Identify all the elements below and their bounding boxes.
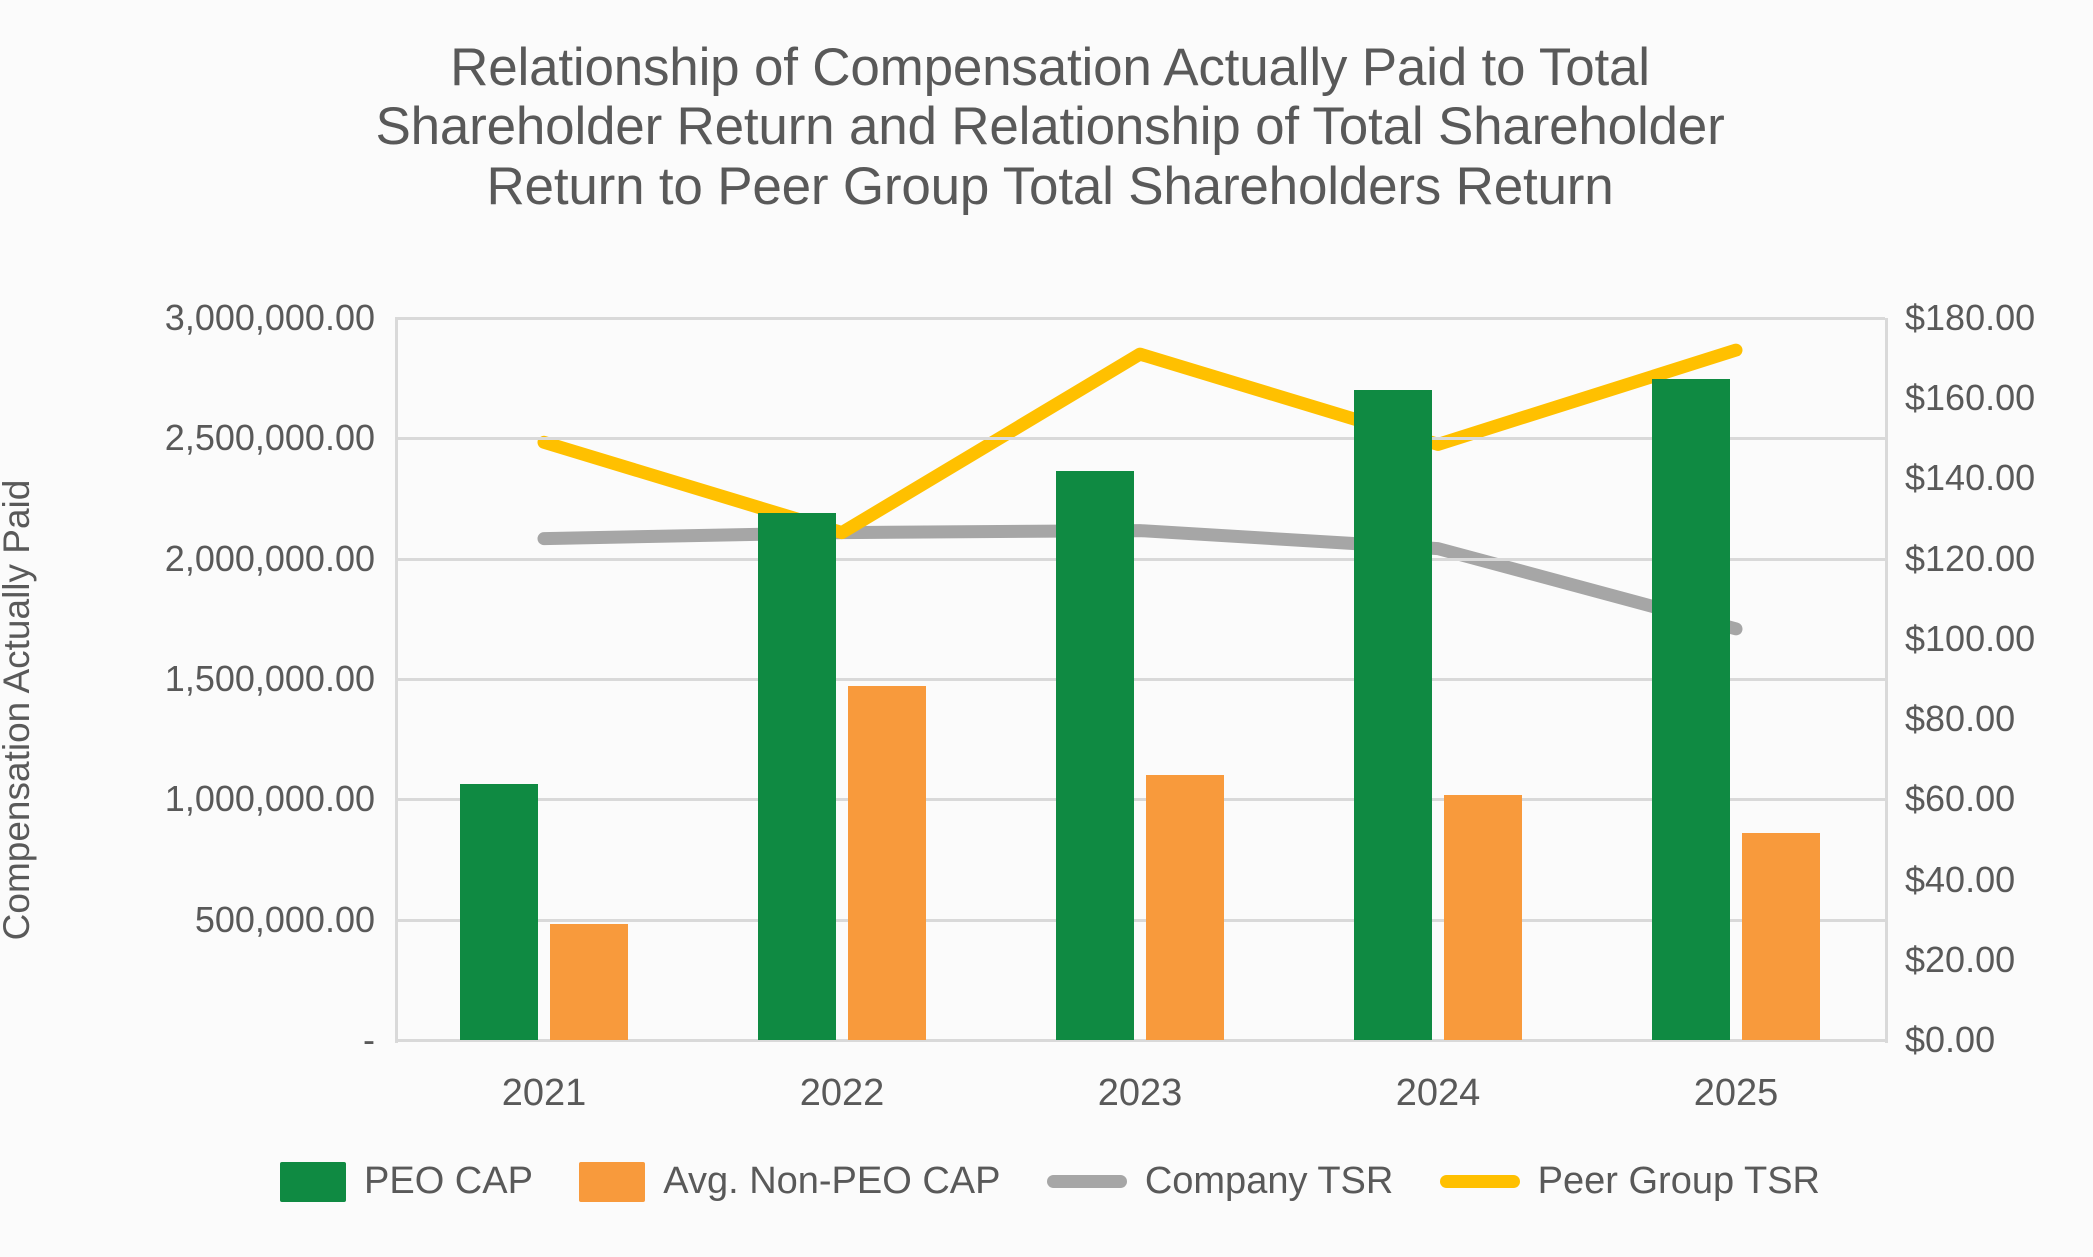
right-axis-tick-label: $0.00 bbox=[1905, 1019, 2093, 1061]
chart-legend: PEO CAPAvg. Non-PEO CAPCompany TSRPeer G… bbox=[270, 1160, 1830, 1203]
right-axis-tick-label: $40.00 bbox=[1905, 859, 2093, 901]
bar-peo-cap bbox=[1354, 390, 1432, 1040]
y-axis-title: Compensation Actually Paid bbox=[0, 430, 38, 990]
gridline bbox=[395, 317, 1885, 320]
x-axis-tick-label: 2022 bbox=[742, 1072, 942, 1115]
legend-label: Company TSR bbox=[1145, 1160, 1394, 1203]
legend-swatch-company-tsr-icon bbox=[1047, 1175, 1127, 1188]
right-axis-tick-label: $160.00 bbox=[1905, 377, 2093, 419]
left-axis-tick-label: - bbox=[125, 1019, 375, 1061]
chart-title-line-2: Shareholder Return and Relationship of T… bbox=[260, 97, 1840, 156]
bar-peo-cap bbox=[1652, 379, 1730, 1040]
legend-item-avg-non-peo-cap[interactable]: Avg. Non-PEO CAP bbox=[579, 1160, 1000, 1203]
legend-swatch-peo-cap-icon bbox=[280, 1162, 346, 1202]
right-axis-tick-label: $120.00 bbox=[1905, 538, 2093, 580]
x-axis-tick-label: 2023 bbox=[1040, 1072, 1240, 1115]
left-axis-tick-label: 2,000,000.00 bbox=[125, 538, 375, 580]
chart-card: Relationship of Compensation Actually Pa… bbox=[0, 0, 2093, 1257]
left-axis-tick-label: 3,000,000.00 bbox=[125, 297, 375, 339]
legend-item-peo-cap[interactable]: PEO CAP bbox=[280, 1160, 533, 1203]
bar-avg-non-peo-cap bbox=[1742, 833, 1820, 1040]
x-axis-tick-label: 2025 bbox=[1636, 1072, 1836, 1115]
bar-avg-non-peo-cap bbox=[550, 924, 628, 1040]
right-axis-tick-label: $60.00 bbox=[1905, 778, 2093, 820]
bar-peo-cap bbox=[1056, 471, 1134, 1040]
right-axis-tick-label: $80.00 bbox=[1905, 698, 2093, 740]
bar-peo-cap bbox=[758, 513, 836, 1040]
bar-avg-non-peo-cap bbox=[1444, 795, 1522, 1040]
right-axis-tick-label: $140.00 bbox=[1905, 457, 2093, 499]
legend-swatch-avg-non-peo-cap-icon bbox=[579, 1162, 645, 1202]
right-axis-line bbox=[1885, 318, 1888, 1043]
line-company-tsr bbox=[544, 531, 1736, 629]
line-peer-group-tsr bbox=[544, 350, 1736, 532]
legend-item-company-tsr[interactable]: Company TSR bbox=[1047, 1160, 1394, 1203]
left-axis-tick-label: 1,500,000.00 bbox=[125, 658, 375, 700]
legend-label: Avg. Non-PEO CAP bbox=[663, 1160, 1000, 1203]
right-axis-tick-label: $20.00 bbox=[1905, 939, 2093, 981]
chart-title: Relationship of Compensation Actually Pa… bbox=[260, 38, 1840, 216]
legend-item-peer-group-tsr[interactable]: Peer Group TSR bbox=[1440, 1160, 1820, 1203]
right-axis-tick-label: $100.00 bbox=[1905, 618, 2093, 660]
bar-avg-non-peo-cap bbox=[1146, 775, 1224, 1040]
x-axis-tick-label: 2024 bbox=[1338, 1072, 1538, 1115]
bar-avg-non-peo-cap bbox=[848, 686, 926, 1040]
chart-title-line-1: Relationship of Compensation Actually Pa… bbox=[260, 38, 1840, 97]
left-axis-tick-label: 1,000,000.00 bbox=[125, 778, 375, 820]
x-axis-tick-label: 2021 bbox=[444, 1072, 644, 1115]
left-axis-tick-label: 500,000.00 bbox=[125, 899, 375, 941]
legend-label: Peer Group TSR bbox=[1538, 1160, 1820, 1203]
plot-area bbox=[395, 318, 1885, 1040]
bar-peo-cap bbox=[460, 784, 538, 1040]
chart-title-line-3: Return to Peer Group Total Shareholders … bbox=[260, 157, 1840, 216]
legend-swatch-peer-group-tsr-icon bbox=[1440, 1175, 1520, 1188]
right-axis-tick-label: $180.00 bbox=[1905, 297, 2093, 339]
left-axis-tick-label: 2,500,000.00 bbox=[125, 417, 375, 459]
legend-label: PEO CAP bbox=[364, 1160, 533, 1203]
